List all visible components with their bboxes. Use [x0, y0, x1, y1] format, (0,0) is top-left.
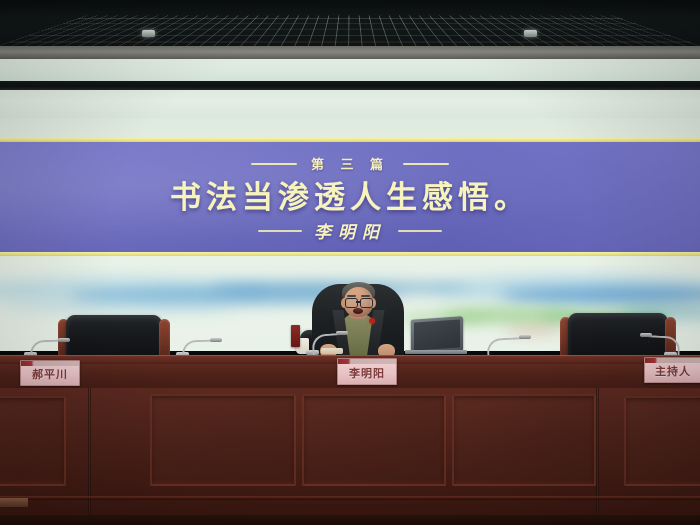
upper-wall-band [0, 59, 700, 81]
microphone-head [58, 338, 70, 342]
speaker-brow-right [361, 295, 370, 297]
nameplate-right: 主持人 [644, 357, 700, 383]
floor-shadow-line [0, 515, 700, 525]
ceiling-shadow-overlay [0, 0, 700, 46]
wood-panel [150, 394, 296, 486]
microphone-stem [30, 339, 63, 356]
kicker-dash-right [403, 163, 449, 165]
wall-shadow-reveal [0, 81, 700, 90]
microphone-head [210, 338, 222, 342]
speaker-glasses-bridge [356, 301, 360, 303]
foliage-wash [505, 327, 565, 334]
signature-dash-right [398, 230, 442, 232]
speaker-glasses-right [360, 298, 373, 308]
microphone-head [519, 335, 531, 339]
nameplate-name-text: 李明阳 [338, 364, 396, 383]
speaker-mouth [353, 308, 363, 314]
microphone-head [336, 331, 348, 335]
banner-kicker-text: 第 三 篇 [311, 154, 389, 173]
ceiling-soffit-beam [0, 46, 700, 59]
banner-rule-bottom [0, 252, 700, 256]
wood-panel [302, 394, 446, 486]
laptop-base [405, 350, 467, 354]
ceiling-grid-panel [0, 0, 700, 46]
laptop-screen [414, 319, 460, 350]
microphone-head [640, 333, 652, 337]
conference-photo-scene: 第 三 篇 书法当渗透人生感悟。 李明阳 [0, 0, 700, 525]
wood-panel [0, 396, 66, 486]
kicker-dash-left [251, 163, 297, 165]
microphone-stem [182, 339, 215, 356]
mountain-wash [0, 299, 240, 315]
nameplate-left: 郝平川 [20, 360, 80, 386]
wood-panel [452, 394, 596, 486]
speaker-brow-left [347, 295, 356, 297]
ceiling-spotlight [524, 30, 537, 37]
signature-dash-left [258, 230, 302, 232]
banner-kicker-row: 第 三 篇 [0, 154, 700, 173]
nameplate-name-text: 郝平川 [21, 366, 79, 384]
title-banner: 第 三 篇 书法当渗透人生感悟。 李明阳 [0, 142, 700, 252]
panel-base-rail [0, 496, 700, 500]
nameplate-center: 李明阳 [337, 358, 397, 385]
wall-above-screen [0, 90, 700, 118]
wood-panel [624, 396, 700, 486]
stage-backdrop: 第 三 篇 书法当渗透人生感悟。 李明阳 [0, 118, 700, 265]
banner-headline: 书法当渗透人生感悟。 [0, 172, 700, 217]
banner-signature: 李明阳 [314, 218, 386, 243]
lapel-mic-icon [369, 318, 375, 324]
speaker-glasses-left [345, 298, 358, 308]
ceiling-spotlight [142, 30, 155, 37]
nameplate-name-text: 主持人 [645, 363, 700, 381]
podium-panel-wall [0, 388, 700, 515]
side-step-ledge [0, 498, 28, 507]
banner-signature-row: 李明阳 [0, 218, 700, 243]
red-folder [291, 325, 300, 347]
